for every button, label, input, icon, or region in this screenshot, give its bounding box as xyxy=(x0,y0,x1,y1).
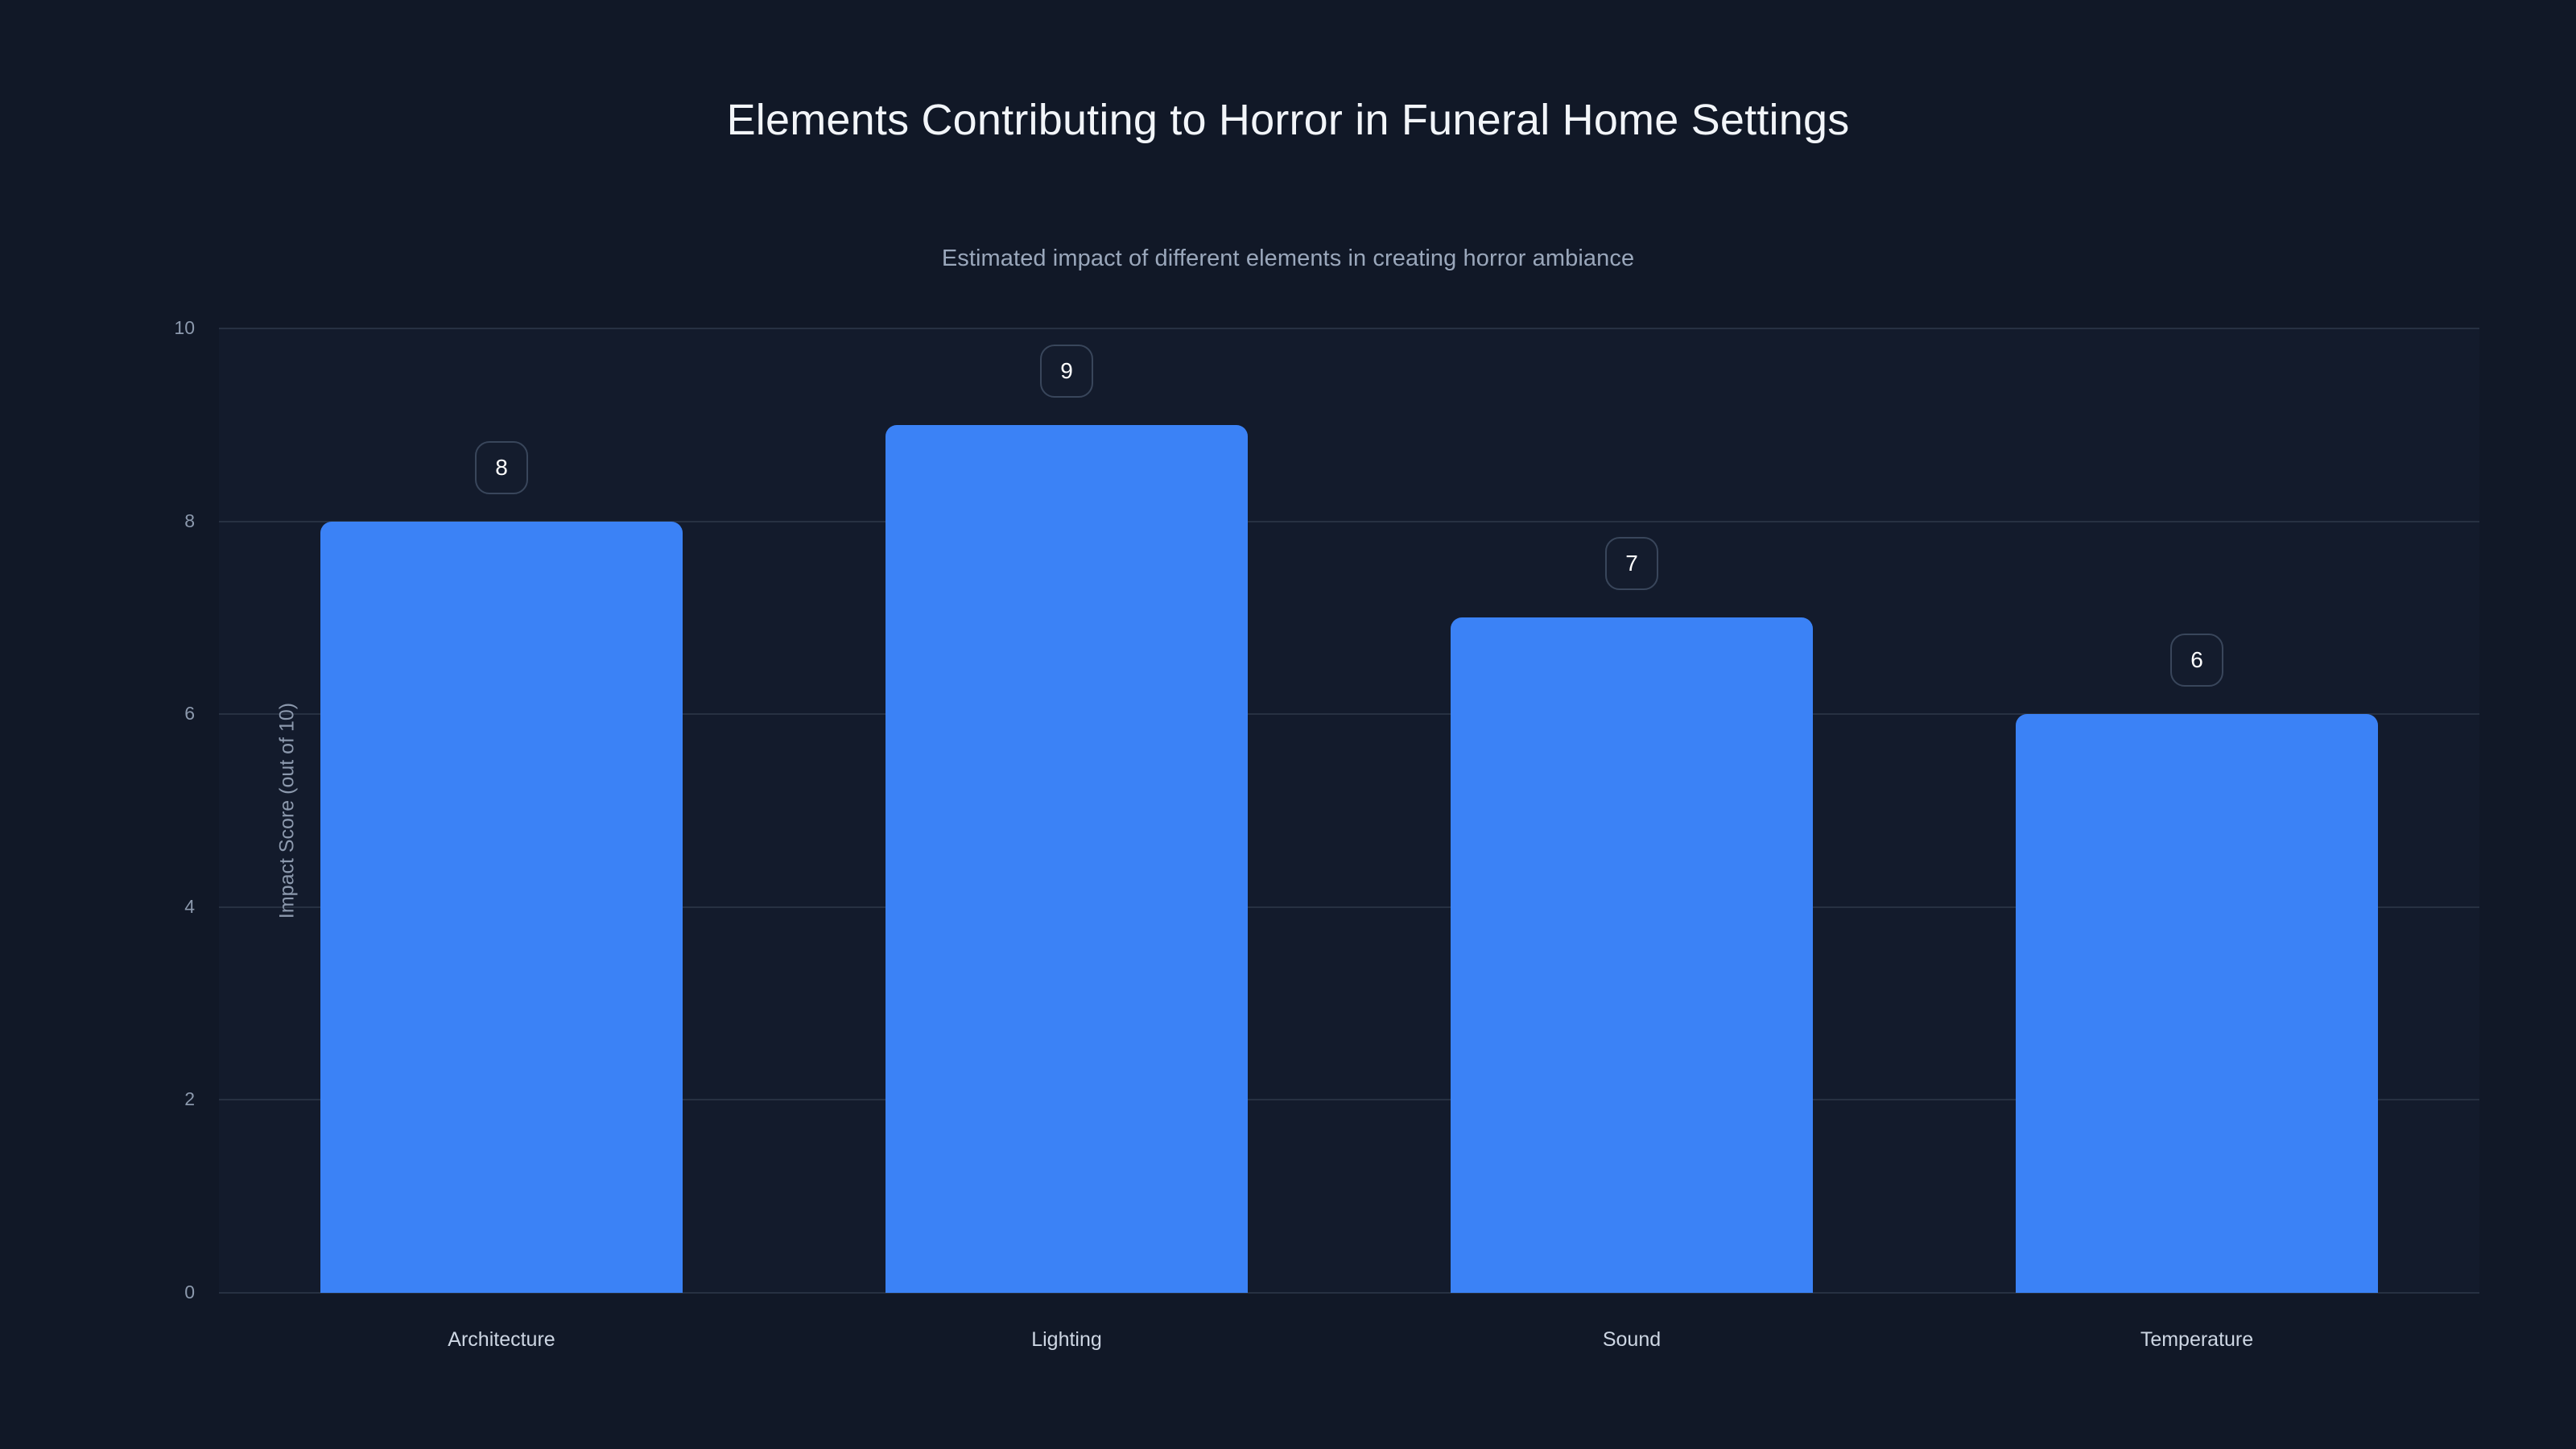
x-axis-tick-label: Sound xyxy=(1603,1328,1661,1352)
bar-value-badge: 9 xyxy=(1040,345,1093,398)
bar-value-badge: 7 xyxy=(1605,537,1658,590)
bar-value-badge: 8 xyxy=(475,441,528,494)
bar[interactable] xyxy=(885,425,1248,1293)
bar-value-badge: 6 xyxy=(2170,634,2223,687)
x-axis-tick-label: Temperature xyxy=(2140,1328,2253,1352)
bar[interactable] xyxy=(2016,714,2378,1293)
bars-layer: 8976 xyxy=(0,0,2576,1449)
x-axis-tick-label: Architecture xyxy=(448,1328,555,1352)
bar[interactable] xyxy=(1451,617,1813,1293)
bar[interactable] xyxy=(320,522,683,1293)
x-axis-tick-label: Lighting xyxy=(1031,1328,1102,1352)
chart-canvas: Elements Contributing to Horror in Funer… xyxy=(0,0,2576,1449)
